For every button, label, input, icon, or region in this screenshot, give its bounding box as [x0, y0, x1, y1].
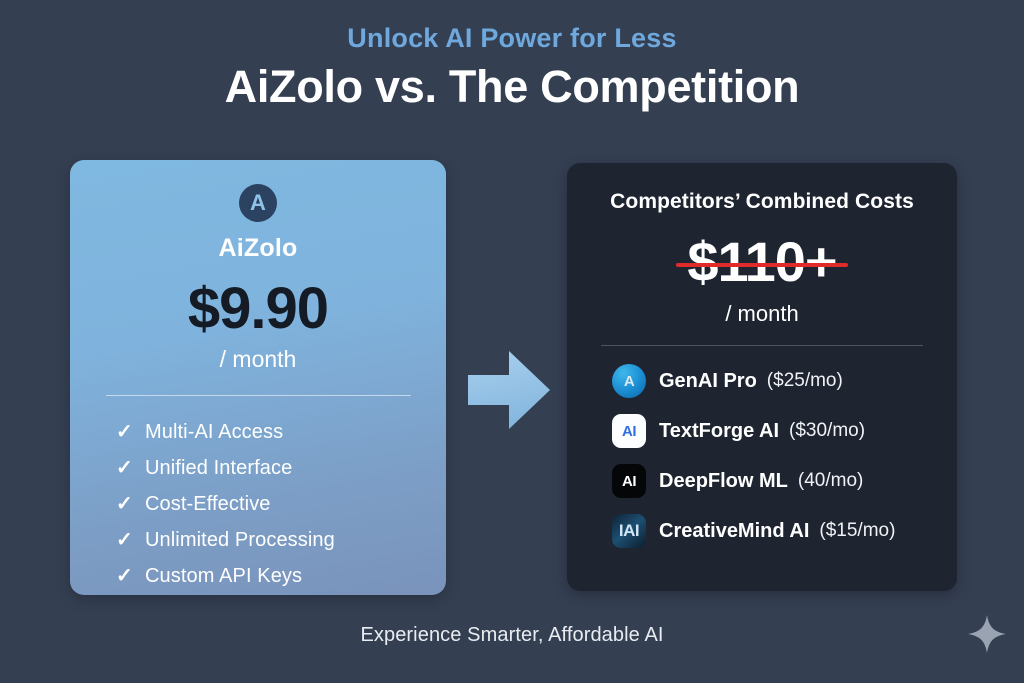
competitors-price: $110+ — [687, 230, 836, 293]
textforge-ai-icon-glyph: AI — [612, 414, 646, 448]
aizolo-logo-glyph: A — [239, 184, 277, 222]
competitor-name: GenAI Pro — [659, 370, 757, 393]
list-item[interactable]: IAI CreativeMind AI ($15/mo) — [612, 514, 957, 548]
left-card-divider — [106, 395, 411, 396]
feature-label: Multi-AI Access — [145, 421, 283, 444]
list-item: ✓ Unlimited Processing — [116, 528, 446, 552]
check-icon: ✓ — [116, 566, 138, 586]
check-icon: ✓ — [116, 530, 138, 550]
page-title: AiZolo vs. The Competition — [0, 61, 1024, 113]
aizolo-circle-logo-icon: A — [239, 184, 277, 222]
creativemind-ai-icon-glyph: IAI — [612, 514, 646, 548]
list-item: ✓ Unified Interface — [116, 456, 446, 480]
list-item[interactable]: A GenAI Pro ($25/mo) — [612, 364, 957, 398]
check-icon: ✓ — [116, 422, 138, 442]
feature-label: Unified Interface — [145, 457, 292, 480]
competitors-cost-card[interactable]: Competitors’ Combined Costs $110+ / mont… — [567, 163, 957, 591]
list-item[interactable]: AI DeepFlow ML (40/mo) — [612, 464, 957, 498]
feature-label: Cost-Effective — [145, 493, 271, 516]
aizolo-brand-name: AiZolo — [70, 234, 446, 263]
list-item: ✓ Multi-AI Access — [116, 420, 446, 444]
list-item: ✓ Cost-Effective — [116, 492, 446, 516]
aizolo-feature-list: ✓ Multi-AI Access ✓ Unified Interface ✓ … — [70, 420, 446, 588]
list-item: ✓ Custom API Keys — [116, 564, 446, 588]
aizolo-price-card[interactable]: A AiZolo $9.90 / month ✓ Multi-AI Access… — [70, 160, 446, 595]
competitor-cost: ($30/mo) — [789, 420, 865, 442]
competitor-cost: ($25/mo) — [767, 370, 843, 392]
competitors-price-period: / month — [567, 301, 957, 327]
strikethrough-line — [676, 263, 847, 267]
competitors-list: A GenAI Pro ($25/mo) AI TextForge AI ($3… — [567, 364, 957, 548]
competitors-price-container: $110+ — [681, 234, 842, 290]
competitor-cost: ($15/mo) — [819, 520, 895, 542]
pricing-comparison-slide: Unlock AI Power for Less AiZolo vs. The … — [0, 0, 1024, 683]
textforge-ai-icon: AI — [612, 414, 646, 448]
check-icon: ✓ — [116, 494, 138, 514]
header: Unlock AI Power for Less AiZolo vs. The … — [0, 22, 1024, 113]
aizolo-price: $9.90 — [70, 280, 446, 338]
feature-label: Custom API Keys — [145, 565, 302, 588]
genai-pro-icon: A — [612, 364, 646, 398]
competitor-name: DeepFlow ML — [659, 470, 788, 493]
deepflow-ml-icon: AI — [612, 464, 646, 498]
footer-tagline: Experience Smarter, Affordable AI — [0, 624, 1024, 647]
competitor-name: TextForge AI — [659, 420, 779, 443]
competitor-cost: (40/mo) — [798, 470, 863, 492]
competitors-heading: Competitors’ Combined Costs — [567, 190, 957, 214]
competitors-price-wrapper: $110+ — [567, 234, 957, 290]
genai-pro-icon-glyph: A — [612, 364, 646, 398]
competitor-name: CreativeMind AI — [659, 520, 809, 543]
aizolo-price-period: / month — [70, 346, 446, 373]
check-icon: ✓ — [116, 458, 138, 478]
sparkle-icon — [966, 613, 1008, 655]
eyebrow-text: Unlock AI Power for Less — [0, 22, 1024, 54]
feature-label: Unlimited Processing — [145, 529, 335, 552]
creativemind-ai-icon: IAI — [612, 514, 646, 548]
right-arrow-icon — [466, 348, 552, 432]
list-item[interactable]: AI TextForge AI ($30/mo) — [612, 414, 957, 448]
right-card-divider — [601, 345, 923, 346]
deepflow-ml-icon-glyph: AI — [612, 464, 646, 498]
